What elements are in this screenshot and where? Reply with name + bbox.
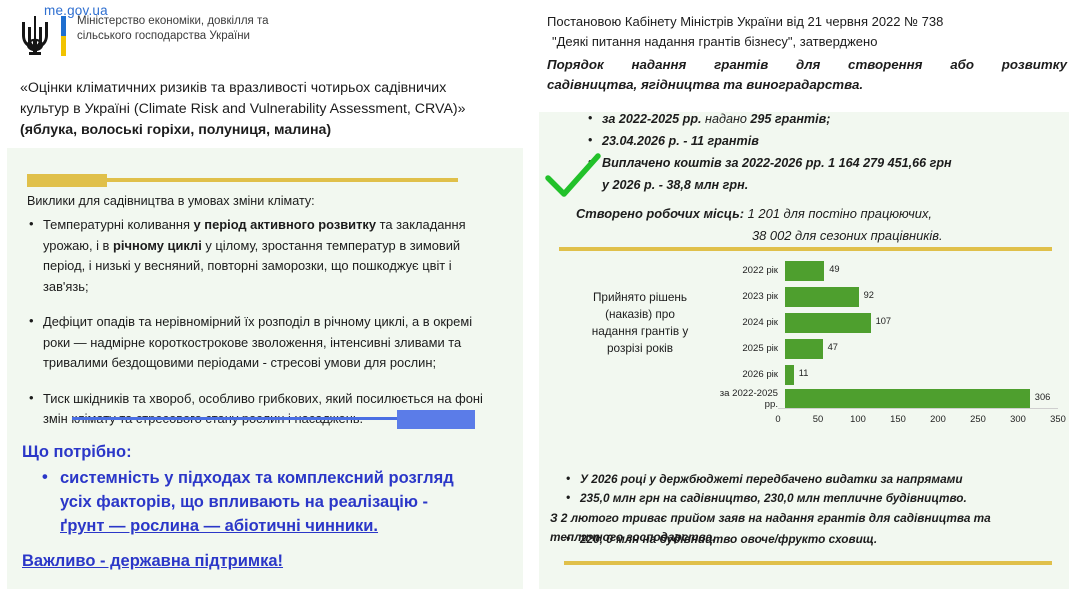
budget-list-2: 220, 0 млн на будівництво овоче/фрукто с…: [566, 530, 1056, 549]
bullet-1-text: Дефіцит опадів та нерівномірний їх розпо…: [43, 314, 472, 370]
chart-x-tick: 300: [1010, 413, 1026, 424]
report-title-line1: «Оцінки кліматичних ризиків та вразливос…: [20, 80, 446, 96]
chart-category-label: 2023 рік: [714, 291, 785, 302]
chart-x-tick: 0: [775, 413, 780, 424]
order-title: Порядок надання грантів для створення аб…: [547, 55, 1067, 95]
grants-b0-b: надано: [702, 112, 751, 126]
chart-bar-value: 107: [876, 316, 892, 326]
chart-side-label-line3: розрізі років: [570, 340, 710, 357]
jobs-value-permanent: 1 201 для постіно працюючих,: [748, 206, 932, 221]
gold-accent-block: [27, 174, 107, 187]
chart-bar-track: 92: [785, 284, 1058, 309]
chart-x-tick: 50: [813, 413, 823, 424]
chart-row: 2026 рік 11: [714, 362, 1058, 387]
chart-bar-value: 49: [829, 264, 839, 274]
chart-side-label-line2: надання грантів у: [570, 323, 710, 340]
bullet-0-part1: Температурні коливання: [43, 217, 194, 232]
list-item: Виплачено коштів за 2022-2026 рр. 1 164 …: [588, 152, 1048, 196]
chart-bar: [785, 365, 794, 385]
order-title-line1: Порядок надання грантів для створення аб…: [547, 55, 1067, 75]
grants-by-year-chart: Прийнято рішень (наказів) про надання гр…: [548, 258, 1058, 436]
chart-bar: [785, 261, 824, 281]
chart-bar-value: 306: [1035, 392, 1051, 402]
chart-row: 2024 рік 107: [714, 310, 1058, 335]
chart-bar-value: 47: [828, 342, 838, 352]
list-item: системність у підходах та комплексний ро…: [42, 466, 462, 538]
blue-accent-block: [397, 410, 475, 429]
chart-bar-track: 47: [785, 336, 1058, 361]
chart-bar: [785, 389, 1030, 408]
need-line1: системність у підходах та комплексний ро…: [60, 469, 454, 487]
budget-bullet-0: У 2026 році у держбюджеті передбачено ви…: [580, 472, 963, 486]
chart-x-tick: 100: [850, 413, 866, 424]
chart-x-tick: 150: [890, 413, 906, 424]
chart-row: за 2022-2025 рр. 306: [714, 388, 1058, 409]
bullet-0-bold1: у період активного розвитку: [194, 217, 377, 232]
chart-category-label: за 2022-2025 рр.: [714, 388, 785, 410]
jobs-created-block: Створено робочих місць: 1 201 для постін…: [576, 203, 1056, 247]
resolution-header: Постановою Кабінету Міністрів України ві…: [547, 12, 1067, 95]
chart-x-tick: 350: [1050, 413, 1066, 424]
list-item: Дефіцит опадів та нерівномірний їх розпо…: [27, 312, 489, 374]
gold-divider-bottom: [564, 561, 1052, 565]
green-check-icon: [544, 152, 602, 202]
jobs-value-seasonal: 38 002 для сезоних працівників.: [752, 225, 1056, 247]
slide-root: Міністерство економіки, довкілля та сіль…: [0, 0, 1076, 589]
ministry-branding: Міністерство економіки, довкілля та сіль…: [18, 14, 269, 58]
report-title-line2: культур в Україні (Climate Risk and Vuln…: [20, 101, 466, 117]
left-panel: Міністерство економіки, довкілля та сіль…: [0, 0, 530, 589]
need-list: системність у підходах та комплексний ро…: [42, 466, 462, 538]
chart-category-label: 2026 рік: [714, 369, 785, 380]
chart-bar-track: 49: [785, 258, 1058, 283]
chart-bar: [785, 287, 859, 307]
right-panel: Постановою Кабінету Міністрів України ві…: [530, 0, 1076, 589]
chart-row: 2022 рік 49: [714, 258, 1058, 283]
grants-b0-a: за 2022-2025 рр.: [602, 112, 702, 126]
report-title-line3: (яблука, волоські горіхи, полуниця, мали…: [20, 122, 331, 138]
list-item: 220, 0 млн на будівництво овоче/фрукто с…: [566, 530, 1056, 549]
chart-category-label: 2022 рік: [714, 265, 785, 276]
chart-side-label-line1: (наказів) про: [570, 306, 710, 323]
chart-category-label: 2024 рік: [714, 317, 785, 328]
grants-b2-a: Виплачено коштів за 2022-2026 рр. 1 164 …: [602, 156, 952, 170]
budget-bullet-1: 235,0 млн грн на садівництво, 230,0 млн …: [580, 491, 967, 505]
chart-row: 2023 рік 92: [714, 284, 1058, 309]
grants-stats-list: за 2022-2025 рр. надано 295 грантів; 23.…: [588, 108, 1048, 196]
ministry-name-line1: Міністерство економіки, довкілля та: [77, 14, 269, 29]
budget-list: У 2026 році у держбюджеті передбачено ви…: [566, 470, 1056, 508]
jobs-label: Створено робочих місць:: [576, 206, 744, 221]
list-item: 235,0 млн грн на садівництво, 230,0 млн …: [566, 489, 1056, 508]
ukraine-trident-icon: [18, 14, 52, 58]
list-item: Температурні коливання у період активног…: [27, 215, 489, 297]
resolution-line1: Постановою Кабінету Міністрів України ві…: [547, 12, 1067, 32]
grants-b2-sub: у 2026 р. - 38,8 млн грн.: [602, 174, 1048, 196]
chart-x-axis: 050100150200250300350: [778, 413, 1058, 431]
challenges-heading: Виклики для садівництва в умовах зміни к…: [27, 194, 315, 208]
chart-bar: [785, 339, 823, 359]
list-item: У 2026 році у держбюджеті передбачено ви…: [566, 470, 1056, 489]
bullet-0-bold2: річному циклі: [113, 238, 202, 253]
chart-bar-value: 11: [799, 368, 809, 378]
grants-b1-a: 23.04.2026 р. - 11 грантів: [602, 134, 759, 148]
report-title: «Оцінки кліматичних ризиків та вразливос…: [20, 78, 510, 141]
chart-side-label: Прийнято рішень (наказів) про надання гр…: [570, 289, 710, 357]
ministry-name-line2: сільського господарства України: [77, 29, 269, 44]
need-heading: Що потрібно:: [22, 443, 132, 462]
resolution-line2: "Деякі питання надання грантів бізнесу",…: [552, 32, 1067, 52]
budget-bullet-2: 220, 0 млн на будівництво овоче/фрукто с…: [580, 532, 877, 546]
chart-bar-track: 306: [785, 388, 1058, 409]
list-item: за 2022-2025 рр. надано 295 грантів;: [588, 108, 1048, 130]
chart-bar-track: 11: [785, 362, 1058, 387]
chart-axis-line: [778, 408, 1058, 409]
chart-bar: [785, 313, 871, 333]
chart-bar-track: 107: [785, 310, 1058, 335]
gold-accent-line: [105, 178, 458, 182]
need-line2: усіх факторів, що впливають на реалізаці…: [60, 493, 428, 511]
chart-category-label: 2025 рік: [714, 343, 785, 354]
chart-side-label-line0: Прийнято рішень: [570, 289, 710, 306]
need-line3: ґрунт — рослина — абіотичні чинники.: [60, 517, 378, 535]
chart-bar-value: 92: [864, 290, 874, 300]
chart-bars: 2022 рік 49 2023 рік 92 2024 рік: [714, 258, 1058, 410]
gold-divider-top: [559, 247, 1052, 251]
important-statement: Важливо - державна підтримка!: [22, 552, 283, 571]
list-item: 23.04.2026 р. - 11 грантів: [588, 130, 1048, 152]
grants-b0-c: 295 грантів;: [750, 112, 830, 126]
chart-row: 2025 рік 47: [714, 336, 1058, 361]
chart-x-tick: 250: [970, 413, 986, 424]
order-title-line2: садівництва, ягідництва та виноградарств…: [547, 75, 1067, 95]
chart-x-tick: 200: [930, 413, 946, 424]
